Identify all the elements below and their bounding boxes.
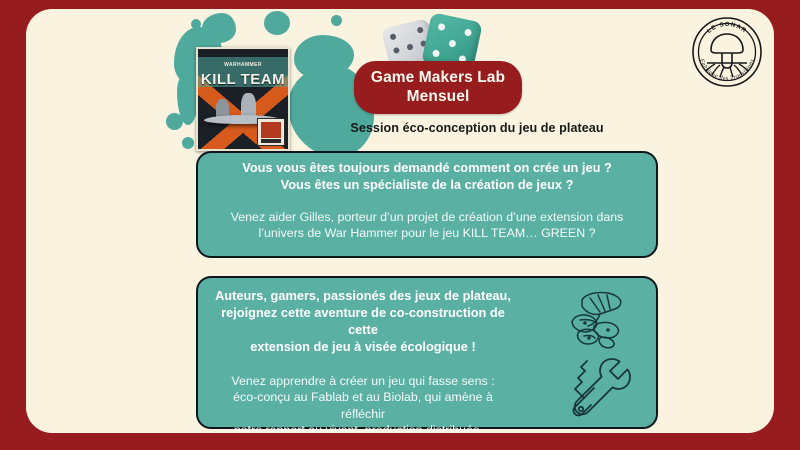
box2-icon-group [554, 286, 646, 422]
splatter-blob [191, 19, 201, 29]
splatter-blob [307, 105, 320, 118]
box2-headline: Auteurs, gamers, passionés des jeux de p… [198, 278, 528, 356]
splatter-blob [264, 11, 290, 35]
event-title-line1: Game Makers Lab [354, 68, 522, 87]
splatter-blob [294, 35, 354, 79]
box2-headline-line1: Auteurs, gamers, passionés des jeux de p… [212, 288, 514, 305]
splatter-blob [182, 137, 194, 149]
box2-body: Venez apprendre à créer un jeu qui fasse… [198, 356, 528, 433]
event-subtitle: Session éco-conception du jeu de plateau [196, 121, 658, 135]
box2-body-line2: éco-conçu au Fablab et au Biolab, qui am… [212, 389, 514, 422]
event-title-badge: Game Makers Lab Mensuel [354, 61, 522, 114]
info-box-question: Vous vous êtes toujours demandé comment … [196, 151, 658, 258]
splatter-blob [320, 45, 340, 65]
mushroom-icon [560, 286, 634, 357]
box1-headline-line1: Vous vous êtes toujours demandé comment … [212, 160, 642, 177]
splatter-blob [202, 13, 236, 43]
info-box-call-to-action: Auteurs, gamers, passionés des jeux de p… [196, 276, 658, 429]
warhammer-brand-text: WARHAMMER [198, 62, 288, 68]
wrench-screwdriver-icon [564, 354, 632, 423]
box2-headline-line2: rejoignez cette aventure de co-construct… [212, 305, 514, 339]
box1-body-line1: Venez aider Gilles, porteur d’un projet … [210, 209, 644, 226]
splatter-blob [331, 15, 342, 26]
le-sonar-logo: LE SONAR Fabrique des Transitions [690, 15, 764, 89]
badge-bar [261, 139, 281, 143]
box2-body-line3: notre rapport au vivant, production dist… [212, 422, 514, 433]
box1-body-line2: l’univers de War Hammer pour le jeu KILL… [210, 225, 644, 242]
splatter-blob [326, 79, 340, 95]
poster-canvas: WARHAMMER KILL TEAM [0, 0, 800, 450]
box1-headline-line2: Vous êtes un spécialiste de la création … [212, 177, 642, 194]
event-title-line2: Mensuel [354, 87, 522, 106]
box1-headline: Vous vous êtes toujours demandé comment … [198, 153, 656, 194]
game-box-cover-image: WARHAMMER KILL TEAM [196, 47, 290, 151]
poster-panel: WARHAMMER KILL TEAM [26, 9, 774, 433]
box2-headline-line3: extension de jeu à visée écologique ! [212, 339, 514, 356]
box1-body: Venez aider Gilles, porteur d’un projet … [198, 194, 656, 242]
splatter-blob [166, 113, 183, 130]
box2-body-line1: Venez apprendre à créer un jeu qui fasse… [212, 373, 514, 390]
kill-team-title-text: KILL TEAM [198, 71, 288, 88]
